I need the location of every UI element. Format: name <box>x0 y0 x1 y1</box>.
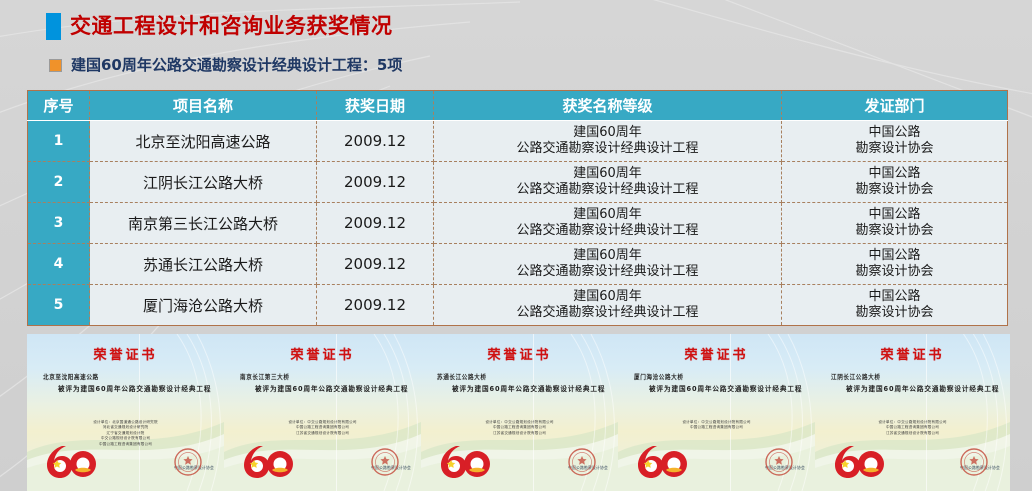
table-row: 1 北京至沈阳高速公路 2009.12 建国60周年 公路交通勘察设计经典设计工… <box>28 121 1008 162</box>
cell-award-line1: 建国60周年 <box>434 125 781 141</box>
cell-dept-line1: 中国公路 <box>782 166 1007 182</box>
cell-award-line1: 建国60周年 <box>434 248 781 264</box>
certificate-design-units: 设计单位：中交公路规划设计院有限公司 中国公路工程咨询集团有限公司 江苏省交通规… <box>421 420 618 436</box>
certificate-gallery: 荣誉证书 北京至沈阳高速公路 被评为建国60周年公路交通勘察设计经典工程 设计单… <box>27 334 1010 491</box>
cell-award: 建国60周年 公路交通勘察设计经典设计工程 <box>434 121 782 162</box>
certificate-body-text: 被评为建国60周年公路交通勘察设计经典工程 <box>237 384 413 395</box>
unit-line: 江苏省交通规划设计院有限公司 <box>421 431 618 436</box>
cell-no: 4 <box>28 244 90 285</box>
subtitle-label: 建国60周年公路交通勘察设计经典设计工程：5项 <box>71 57 402 73</box>
unit-line: 江苏省交通规划设计院有限公司 <box>224 431 421 436</box>
cell-dept-line2: 勘察设计协会 <box>782 182 1007 198</box>
certificate-project-name: 苏通长江公路大桥 <box>437 372 487 381</box>
anniversary-60-logo <box>45 443 97 479</box>
column-header-dept: 发证部门 <box>782 91 1008 121</box>
cell-award-line2: 公路交通勘察设计经典设计工程 <box>434 182 781 198</box>
cell-award: 建国60周年 公路交通勘察设计经典设计工程 <box>434 162 782 203</box>
certificate-heading: 荣誉证书 <box>27 344 224 363</box>
certificate-body-text: 被评为建国60周年公路交通勘察设计经典工程 <box>828 384 1002 395</box>
page-title: 交通工程设计和咨询业务获奖情况 <box>70 13 393 40</box>
official-seal-icon <box>757 447 801 477</box>
cell-dept: 中国公路 勘察设计协会 <box>782 162 1008 203</box>
cell-dept-line2: 勘察设计协会 <box>782 223 1007 239</box>
cell-date: 2009.12 <box>317 162 434 203</box>
cell-dept-line1: 中国公路 <box>782 207 1007 223</box>
cell-award: 建国60周年 公路交通勘察设计经典设计工程 <box>434 285 782 326</box>
anniversary-60-logo <box>439 443 491 479</box>
certificate-project-name: 南京长江第三大桥 <box>240 372 290 381</box>
cell-dept-line2: 勘察设计协会 <box>782 141 1007 157</box>
certificate-heading: 荣誉证书 <box>815 344 1010 363</box>
cell-award: 建国60周年 公路交通勘察设计经典设计工程 <box>434 244 782 285</box>
cell-award-line2: 公路交通勘察设计经典设计工程 <box>434 264 781 280</box>
certificate-design-units: 设计单位：中交公路规划设计院有限公司 中国公路工程咨询集团有限公司 <box>618 420 815 431</box>
unit-line: 江苏省交通规划设计院有限公司 <box>815 431 1010 436</box>
certificate-body-text: 被评为建国60周年公路交通勘察设计经典工程 <box>631 384 807 395</box>
cell-date: 2009.12 <box>317 203 434 244</box>
official-seal-icon <box>363 447 407 477</box>
cell-dept-line2: 勘察设计协会 <box>782 305 1007 321</box>
certificate-image: 荣誉证书 厦门海沧公路大桥 被评为建国60周年公路交通勘察设计经典工程 设计单位… <box>618 334 815 491</box>
certificate-image: 荣誉证书 南京长江第三大桥 被评为建国60周年公路交通勘察设计经典工程 设计单位… <box>224 334 421 491</box>
table-header-row: 序号 项目名称 获奖日期 获奖名称等级 发证部门 <box>28 91 1008 121</box>
table-row: 4 苏通长江公路大桥 2009.12 建国60周年 公路交通勘察设计经典设计工程… <box>28 244 1008 285</box>
cell-dept: 中国公路 勘察设计协会 <box>782 244 1008 285</box>
certificate-project-name: 江阴长江公路大桥 <box>831 372 881 381</box>
cell-award-line2: 公路交通勘察设计经典设计工程 <box>434 305 781 321</box>
table-row: 5 厦门海沧公路大桥 2009.12 建国60周年 公路交通勘察设计经典设计工程… <box>28 285 1008 326</box>
certificate-image: 荣誉证书 北京至沈阳高速公路 被评为建国60周年公路交通勘察设计经典工程 设计单… <box>27 334 224 491</box>
cell-no: 3 <box>28 203 90 244</box>
slide-title: 交通工程设计和咨询业务获奖情况 <box>46 13 393 40</box>
column-header-date: 获奖日期 <box>317 91 434 121</box>
certificate-image: 荣誉证书 苏通长江公路大桥 被评为建国60周年公路交通勘察设计经典工程 设计单位… <box>421 334 618 491</box>
table-row: 3 南京第三长江公路大桥 2009.12 建国60周年 公路交通勘察设计经典设计… <box>28 203 1008 244</box>
cell-dept: 中国公路 勘察设计协会 <box>782 121 1008 162</box>
section-subtitle: 建国60周年公路交通勘察设计经典设计工程：5项 <box>49 57 402 73</box>
anniversary-60-logo <box>636 443 688 479</box>
cell-dept-line1: 中国公路 <box>782 289 1007 305</box>
cell-no: 1 <box>28 121 90 162</box>
official-seal-icon <box>166 447 210 477</box>
cell-award-line1: 建国60周年 <box>434 166 781 182</box>
certificate-heading: 荣誉证书 <box>618 344 815 363</box>
cell-award-line2: 公路交通勘察设计经典设计工程 <box>434 223 781 239</box>
cell-award-line2: 公路交通勘察设计经典设计工程 <box>434 141 781 157</box>
unit-line: 中国公路工程咨询集团有限公司 <box>618 425 815 430</box>
cell-dept: 中国公路 勘察设计协会 <box>782 203 1008 244</box>
cell-award-line1: 建国60周年 <box>434 207 781 223</box>
cell-date: 2009.12 <box>317 244 434 285</box>
certificate-image: 荣誉证书 江阴长江公路大桥 被评为建国60周年公路交通勘察设计经典工程 设计单位… <box>815 334 1010 491</box>
anniversary-60-logo <box>242 443 294 479</box>
certificate-design-units: 设计单位：中交公路规划设计院有限公司 中国公路工程咨询集团有限公司 江苏省交通规… <box>224 420 421 436</box>
cell-project: 苏通长江公路大桥 <box>90 244 317 285</box>
table-row: 2 江阴长江公路大桥 2009.12 建国60周年 公路交通勘察设计经典设计工程… <box>28 162 1008 203</box>
certificate-project-name: 北京至沈阳高速公路 <box>43 372 99 381</box>
awards-table: 序号 项目名称 获奖日期 获奖名称等级 发证部门 1 北京至沈阳高速公路 200… <box>27 90 1008 326</box>
cell-date: 2009.12 <box>317 121 434 162</box>
cell-project: 江阴长江公路大桥 <box>90 162 317 203</box>
official-seal-icon <box>560 447 604 477</box>
cell-no: 2 <box>28 162 90 203</box>
bullet-square-icon <box>49 59 62 72</box>
column-header-award: 获奖名称等级 <box>434 91 782 121</box>
official-seal-icon <box>952 447 996 477</box>
certificate-project-name: 厦门海沧公路大桥 <box>634 372 684 381</box>
certificate-heading: 荣誉证书 <box>224 344 421 363</box>
certificate-body-text: 被评为建国60周年公路交通勘察设计经典工程 <box>40 384 216 395</box>
cell-dept: 中国公路 勘察设计协会 <box>782 285 1008 326</box>
cell-date: 2009.12 <box>317 285 434 326</box>
cell-project: 北京至沈阳高速公路 <box>90 121 317 162</box>
column-header-project: 项目名称 <box>90 91 317 121</box>
cell-dept-line1: 中国公路 <box>782 248 1007 264</box>
certificate-heading: 荣誉证书 <box>421 344 618 363</box>
cell-no: 5 <box>28 285 90 326</box>
cell-award: 建国60周年 公路交通勘察设计经典设计工程 <box>434 203 782 244</box>
cell-dept-line1: 中国公路 <box>782 125 1007 141</box>
title-accent-bar <box>46 13 61 40</box>
certificate-body-text: 被评为建国60周年公路交通勘察设计经典工程 <box>434 384 610 395</box>
cell-project: 厦门海沧公路大桥 <box>90 285 317 326</box>
cell-award-line1: 建国60周年 <box>434 289 781 305</box>
column-header-no: 序号 <box>28 91 90 121</box>
anniversary-60-logo <box>833 443 885 479</box>
cell-dept-line2: 勘察设计协会 <box>782 264 1007 280</box>
certificate-design-units: 设计单位：中交公路规划设计院有限公司 中国公路工程咨询集团有限公司 江苏省交通规… <box>815 420 1010 436</box>
cell-project: 南京第三长江公路大桥 <box>90 203 317 244</box>
